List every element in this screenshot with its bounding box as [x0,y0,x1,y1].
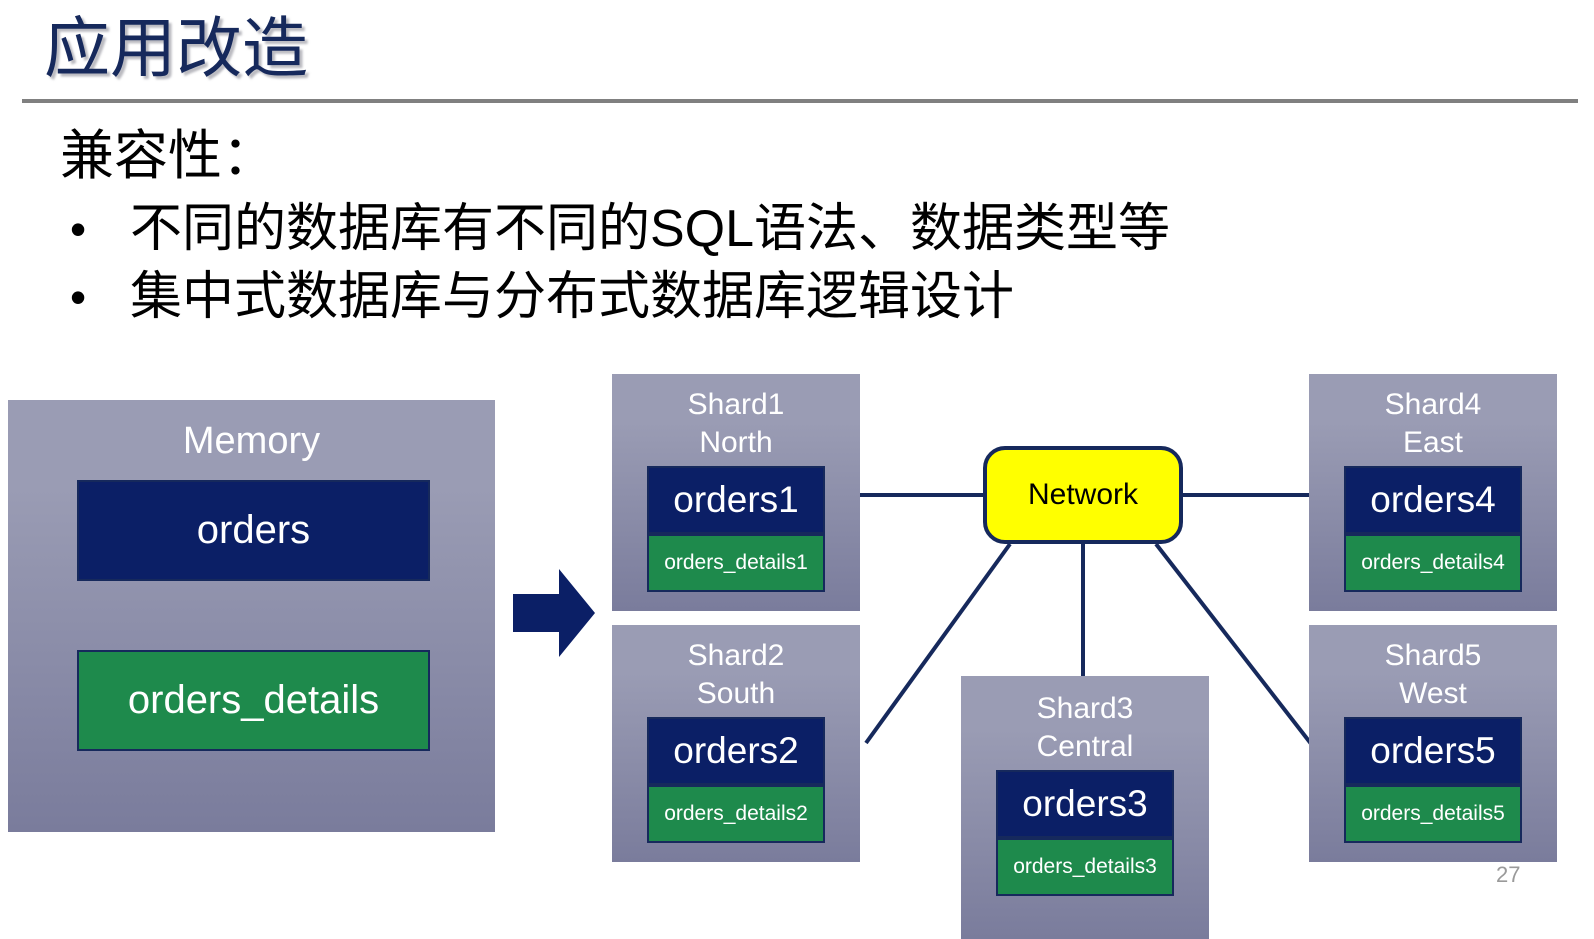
shard4-table-detail: orders_details4 [1344,534,1522,592]
shard5-region: West [1309,675,1557,713]
shard3-table-main: orders3 [996,770,1174,838]
shard3-title: Shard3 [961,690,1209,728]
shard-panel-shard4: Shard4 East orders4 orders_details4 [1309,374,1557,611]
shard3-table-main-label: orders3 [1022,783,1147,825]
shard3-table-detail-label: orders_details3 [1013,855,1157,879]
shard4-table-main: orders4 [1344,466,1522,534]
memory-table-orders: orders [77,480,430,581]
shard4-title: Shard4 [1309,386,1557,424]
shard4-table-main-label: orders4 [1370,479,1495,521]
shard2-table-main-label: orders2 [673,730,798,772]
shard-panel-shard3: Shard3 Central orders3 orders_details3 [961,676,1209,939]
shard2-table-detail: orders_details2 [647,785,825,843]
network-node-label: Network [1028,478,1138,512]
shard4-region: East [1309,424,1557,462]
shard1-table-main: orders1 [647,466,825,534]
shard-panel-shard5: Shard5 West orders5 orders_details5 [1309,625,1557,862]
shard1-region: North [612,424,860,462]
shard5-table-main: orders5 [1344,717,1522,785]
shard1-table-detail-label: orders_details1 [664,551,808,575]
network-node: Network [983,446,1183,544]
architecture-diagram: Memory orders orders_details Shard1 Nort… [0,0,1594,939]
slide-number: 27 [1496,862,1520,888]
shard-panel-shard2: Shard2 South orders2 orders_details2 [612,625,860,862]
memory-panel: Memory orders orders_details [8,400,495,832]
shard1-table-detail: orders_details1 [647,534,825,592]
shard4-table-detail-label: orders_details4 [1361,551,1505,575]
shard1-table-main-label: orders1 [673,479,798,521]
shard2-table-main: orders2 [647,717,825,785]
shard5-title: Shard5 [1309,637,1557,675]
slide-canvas: 应用改造 兼容性： • 不同的数据库有不同的SQL语法、数据类型等 • 集中式数… [0,0,1594,939]
shard1-title: Shard1 [612,386,860,424]
shard-panel-shard1: Shard1 North orders1 orders_details1 [612,374,860,611]
shard2-table-detail-label: orders_details2 [664,802,808,826]
shard2-region: South [612,675,860,713]
shard5-table-main-label: orders5 [1370,730,1495,772]
shard5-table-detail: orders_details5 [1344,785,1522,843]
shard3-region: Central [961,728,1209,766]
shard5-table-detail-label: orders_details5 [1361,802,1505,826]
shard3-table-detail: orders_details3 [996,838,1174,896]
shard2-title: Shard2 [612,637,860,675]
transform-arrow-icon [513,567,595,659]
memory-table-orders-details-label: orders_details [128,678,379,723]
memory-panel-title: Memory [8,418,495,464]
memory-table-orders-label: orders [197,508,310,553]
memory-table-orders-details: orders_details [77,650,430,751]
